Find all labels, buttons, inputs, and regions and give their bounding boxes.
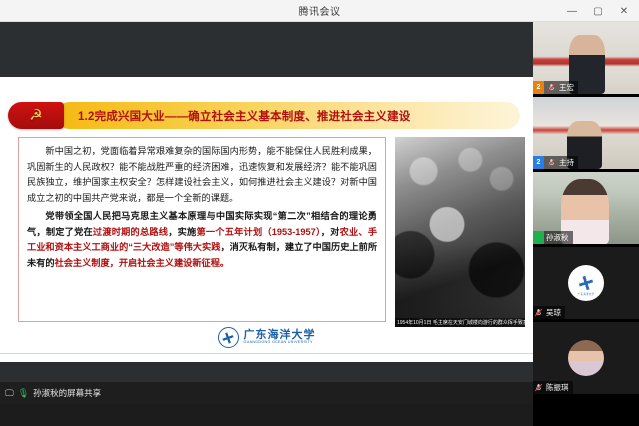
participant-nametag: 陈振琪 xyxy=(533,381,573,394)
window-controls: — ▢ ✕ xyxy=(559,0,637,22)
participant-tile[interactable]: 广东海洋大学吴琼 xyxy=(533,247,639,319)
microphone-muted-icon xyxy=(546,81,557,94)
participant-tile[interactable]: 2主持 xyxy=(533,97,639,169)
signal-badge-icon: 2 xyxy=(533,156,544,169)
slide-textbox: 新中国之初，党面临着异常艰难复杂的国际国内形势，能不能保住人民胜利成果，巩固新生… xyxy=(18,137,386,322)
participant-rail[interactable]: 2王宏2主持孙淑秋广东海洋大学吴琼陈振琪 xyxy=(533,22,639,426)
shared-screen-stage[interactable]: ☭ 1.2完成兴国大业——确立社会主义基本制度、推进社会主义建设 新中国之初，党… xyxy=(0,22,533,404)
slide-paragraph-2-run-2: ，实施 xyxy=(168,227,196,237)
screen-share-status-bar: 🖵 🎙 孙淑秋的屏幕共享 xyxy=(0,382,533,404)
avatar xyxy=(568,340,604,376)
slide-paragraph-2-run-7: 社会主义制度，开启社会主义建设新征程。 xyxy=(55,258,230,268)
maximize-button[interactable]: ▢ xyxy=(585,0,611,22)
slide-divider xyxy=(0,353,533,355)
slide-heading-banner: ☭ 1.2完成兴国大业——确立社会主义基本制度、推进社会主义建设 xyxy=(8,102,520,129)
slide-paragraph-1: 新中国之初，党面临着异常艰难复杂的国际国内形势，能不能保住人民胜利成果，巩固新生… xyxy=(27,144,377,206)
participant-tile[interactable]: 2王宏 xyxy=(533,22,639,94)
microphone-muted-icon xyxy=(546,156,557,169)
microphone-icon: 🎙 xyxy=(18,388,29,399)
minimize-button[interactable]: — xyxy=(559,0,585,22)
signal-badge-icon: 2 xyxy=(533,81,544,94)
participant-name: 吴琼 xyxy=(546,307,561,318)
microphone-muted-icon xyxy=(533,381,544,394)
participant-nametag: 2王宏 xyxy=(533,81,578,94)
slide-paragraph-2-run-1: 过渡时期的总路线 xyxy=(93,227,168,237)
signal-badge-icon xyxy=(533,231,544,244)
slide-paragraph-2-run-4: ，对 xyxy=(321,227,340,237)
screen-share-text: 孙淑秋的屏幕共享 xyxy=(33,387,101,399)
participant-name: 主持 xyxy=(559,157,574,168)
slide-paragraph-2-run-3: 第一个五年计划（1953-1957） xyxy=(196,227,320,237)
participant-name: 孙淑秋 xyxy=(546,232,569,243)
avatar-logo-text: 广东海洋大学 xyxy=(568,292,604,296)
tencent-meeting-window: 腾讯会议 — ▢ ✕ ☭ 1.2完成兴国大业——确立社会主义基本制度、推进社会主… xyxy=(0,0,639,426)
university-logo: 广东海洋大学 GUANGDONG OCEAN UNIVERSITY xyxy=(0,327,533,348)
photo-caption: 1954年10月1日 毛主席在天安门城楼向游行的群众挥手致意 xyxy=(395,318,525,327)
university-emblem-icon xyxy=(577,274,595,292)
participant-tile[interactable]: 陈振琪 xyxy=(533,322,639,394)
window-title: 腾讯会议 xyxy=(299,3,341,18)
university-name-en: GUANGDONG OCEAN UNIVERSITY xyxy=(244,341,316,345)
participant-nametag: 孙淑秋 xyxy=(533,231,573,244)
historical-photo: 1954年10月1日 毛主席在天安门城楼向游行的群众挥手致意 xyxy=(395,137,525,327)
participant-nametag: 吴琼 xyxy=(533,306,565,319)
participant-tile[interactable]: 孙淑秋 xyxy=(533,172,639,244)
participant-name: 王宏 xyxy=(559,82,574,93)
banner-bar: 1.2完成兴国大业——确立社会主义基本制度、推进社会主义建设 xyxy=(56,102,520,129)
slide-paragraph-2: 党带领全国人民把马克思主义基本原理与中国实际实现“第二次”相结合的理论勇气，制定… xyxy=(27,209,377,271)
screen-share-icon: 🖵 xyxy=(5,388,14,399)
microphone-muted-icon xyxy=(533,306,544,319)
presentation-slide: ☭ 1.2完成兴国大业——确立社会主义基本制度、推进社会主义建设 新中国之初，党… xyxy=(0,77,533,362)
university-emblem-icon xyxy=(218,327,239,348)
participant-name: 陈振琪 xyxy=(546,382,569,393)
party-hammer-sickle-icon: ☭ xyxy=(8,102,64,129)
avatar: 广东海洋大学 xyxy=(568,265,604,301)
window-titlebar: 腾讯会议 — ▢ ✕ xyxy=(0,0,639,22)
participant-nametag: 2主持 xyxy=(533,156,578,169)
close-button[interactable]: ✕ xyxy=(611,0,637,22)
slide-heading-text: 1.2完成兴国大业——确立社会主义基本制度、推进社会主义建设 xyxy=(78,108,410,124)
